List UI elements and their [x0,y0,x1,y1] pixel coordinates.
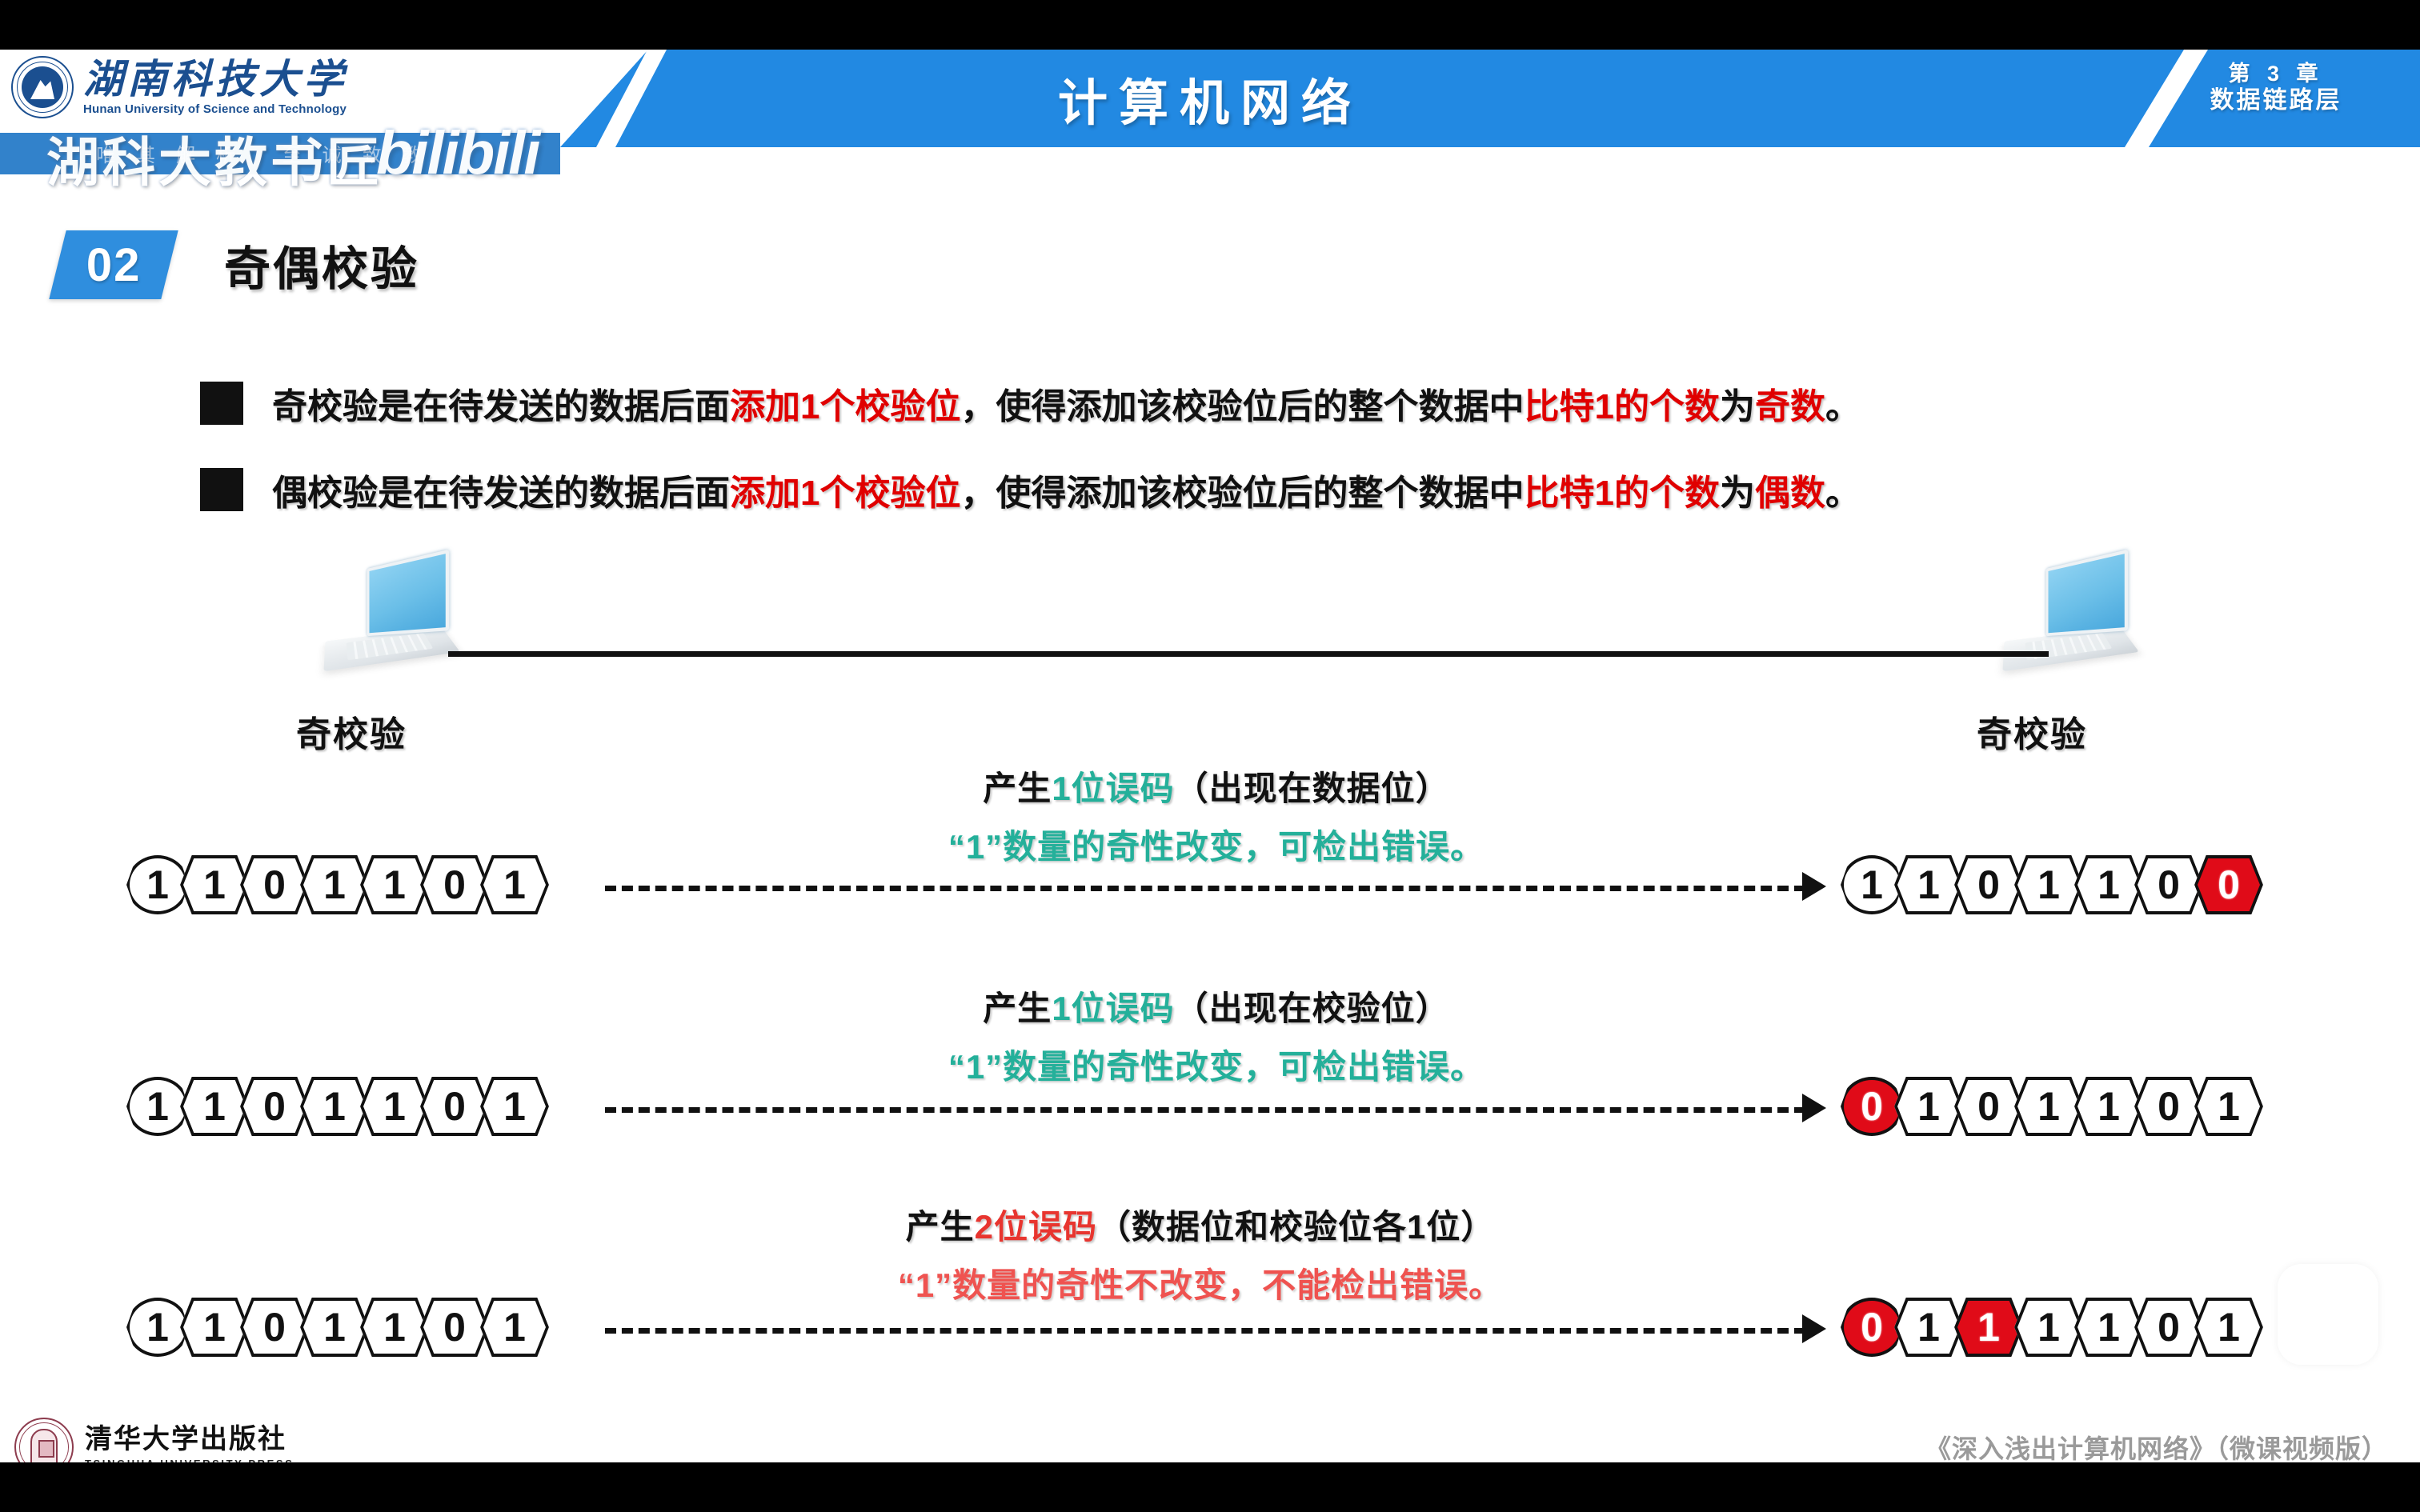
bit-value: 1 [2097,862,2120,908]
bit-cell: 0 [2194,855,2263,914]
bit-cell: 0 [2134,855,2203,914]
bit-value: 0 [2158,1083,2180,1130]
bit-value: 1 [2037,1304,2060,1350]
bit-cell: 1 [2194,1077,2263,1136]
bit-cell: 0 [420,1298,489,1357]
bit-cell: 1 [480,1077,549,1136]
bit-cell: 1 [2074,855,2143,914]
bit-cell: 1 [1841,855,1903,914]
bit-cell: 1 [480,855,549,914]
bit-value: 1 [146,862,169,908]
receiver-label: 奇校验 [1977,706,2087,757]
slide-canvas: 湖南科技大学 Hunan University of Science and T… [0,50,2420,1462]
bit-cell: 1 [2014,855,2083,914]
bullet-square-icon [200,382,243,425]
transmission-arrow-head-3 [1802,1314,1826,1343]
bit-value: 1 [2218,1083,2240,1130]
bit-value: 0 [263,1304,286,1350]
bit-cell: 0 [1954,855,2023,914]
link-line [448,651,2049,657]
bit-sequence-sent-2: 1101101 [126,1075,540,1138]
bit-value: 1 [503,1083,526,1130]
play-button-watermark-icon[interactable] [2278,1264,2378,1365]
annotation-1-title: 产生1位误码（出现在数据位） [720,762,1713,810]
watermark-channel-name: 湖科大教书匠 [46,120,383,197]
book-title: 《深入浅出计算机网络》（微课视频版） [1925,1429,2388,1462]
bit-cell: 0 [1954,1077,2023,1136]
bit-value: 0 [443,1304,466,1350]
bit-value: 1 [146,1083,169,1130]
chapter-number: 第 3 章 [2156,61,2396,86]
bit-value: 1 [203,1083,226,1130]
annotation-3-detail: “1”数量的奇性不改变，不能检出错误。 [704,1258,1697,1307]
section-title: 奇偶校验 [224,231,419,298]
transmission-arrow-line-3 [605,1328,1805,1334]
bit-value: 1 [1977,1304,2000,1350]
bit-sequence-received-3: 0111101 [1841,1296,2254,1358]
bit-cell: 1 [1894,1077,1963,1136]
laptop-receiver-icon [1997,558,2142,678]
bit-value: 1 [323,1083,346,1130]
bullet-item-even-parity: 偶校验是在待发送的数据后面添加1个校验位，使得添加该校验位后的整个数据中比特1的… [200,464,1861,515]
bit-cell: 1 [1894,855,1963,914]
bit-value: 0 [443,862,466,908]
bit-value: 0 [2158,862,2180,908]
bit-value: 1 [203,862,226,908]
bit-value: 1 [1917,1304,1940,1350]
bit-cell: 1 [126,855,189,914]
bit-cell: 0 [1841,1298,1903,1357]
bit-value: 1 [2037,862,2060,908]
bit-cell: 1 [300,1077,369,1136]
bit-cell: 1 [480,1298,549,1357]
bit-cell: 1 [126,1298,189,1357]
bit-sequence-sent-3: 1101101 [126,1296,540,1358]
bit-cell: 0 [2134,1077,2203,1136]
bit-cell: 0 [2134,1298,2203,1357]
annotation-3-title: 产生2位误码（数据位和校验位各1位） [704,1200,1697,1249]
bit-cell: 1 [180,1298,249,1357]
annotation-row-1: 产生1位误码（出现在数据位） “1”数量的奇性改变，可检出错误。 [720,762,1713,869]
bit-value: 1 [503,862,526,908]
bit-cell: 0 [240,1298,309,1357]
bit-cell: 0 [1841,1077,1903,1136]
publisher-logo: 清华大学出版社 TSINGHUA UNIVERSITY PRESS [14,1418,294,1462]
section-number-badge: 02 [49,230,178,299]
bit-value: 1 [1861,862,1883,908]
section-number: 02 [86,238,142,292]
laptop-sender-icon [319,558,463,678]
bit-value: 1 [2218,1304,2240,1350]
sender-label: 奇校验 [296,706,407,757]
bit-value: 0 [1861,1304,1883,1350]
bullet-text-even: 偶校验是在待发送的数据后面添加1个校验位，使得添加该校验位后的整个数据中比特1的… [272,464,1861,515]
bit-cell: 1 [2014,1298,2083,1357]
bit-value: 1 [1917,1083,1940,1130]
bit-value: 1 [323,1304,346,1350]
transmission-arrow-line-1 [605,886,1805,891]
bit-value: 1 [383,1083,406,1130]
annotation-2-title: 产生1位误码（出现在校验位） [720,982,1713,1030]
bit-value: 1 [1917,862,1940,908]
bit-cell: 1 [2074,1077,2143,1136]
bit-cell: 1 [180,855,249,914]
bit-value: 1 [2097,1304,2120,1350]
bit-cell: 0 [240,1077,309,1136]
bit-value: 1 [383,862,406,908]
bit-sequence-sent-1: 1101101 [126,854,540,916]
chapter-label: 第 3 章 数据链路层 [2156,61,2396,115]
transmission-arrow-line-2 [605,1107,1805,1113]
section-heading: 02 奇偶校验 [58,230,419,299]
bit-cell: 0 [240,855,309,914]
bit-cell: 0 [420,1077,489,1136]
annotation-2-detail: “1”数量的奇性改变，可检出错误。 [720,1040,1713,1089]
bit-cell: 1 [360,1298,429,1357]
bit-cell: 1 [300,1298,369,1357]
bit-value: 0 [263,1083,286,1130]
bit-value: 1 [503,1304,526,1350]
watermark-bilibili-logo: bilibili [376,118,539,188]
bit-value: 1 [323,862,346,908]
bit-cell: 1 [180,1077,249,1136]
bit-cell: 1 [360,855,429,914]
bit-value: 1 [146,1304,169,1350]
bit-value: 0 [2218,862,2240,908]
bit-value: 1 [383,1304,406,1350]
transmission-arrow-head-1 [1802,872,1826,901]
bit-value: 1 [2037,1083,2060,1130]
bit-cell: 1 [2194,1298,2263,1357]
annotation-row-2: 产生1位误码（出现在校验位） “1”数量的奇性改变，可检出错误。 [720,982,1713,1089]
bit-value: 1 [2097,1083,2120,1130]
bit-cell: 1 [1894,1298,1963,1357]
bit-sequence-received-1: 1101100 [1841,854,2254,916]
bit-cell: 1 [1954,1298,2023,1357]
bit-cell: 1 [300,855,369,914]
annotation-1-detail: “1”数量的奇性改变，可检出错误。 [720,820,1713,869]
bullet-item-odd-parity: 奇校验是在待发送的数据后面添加1个校验位，使得添加该校验位后的整个数据中比特1的… [200,378,1861,429]
bit-sequence-received-2: 0101101 [1841,1075,2254,1138]
bit-value: 0 [2158,1304,2180,1350]
bit-cell: 1 [360,1077,429,1136]
bullet-text-odd: 奇校验是在待发送的数据后面添加1个校验位，使得添加该校验位后的整个数据中比特1的… [272,378,1861,429]
bit-value: 1 [203,1304,226,1350]
annotation-row-3: 产生2位误码（数据位和校验位各1位） “1”数量的奇性不改变，不能检出错误。 [704,1200,1697,1307]
publisher-name-en: TSINGHUA UNIVERSITY PRESS [85,1458,294,1462]
bit-cell: 1 [2014,1077,2083,1136]
bullet-square-icon [200,468,243,511]
bit-value: 0 [1977,1083,2000,1130]
bit-cell: 1 [126,1077,189,1136]
transmission-arrow-head-2 [1802,1094,1826,1122]
bit-cell: 0 [420,855,489,914]
bit-value: 0 [263,862,286,908]
bit-value: 0 [443,1083,466,1130]
bit-cell: 1 [2074,1298,2143,1357]
publisher-name-cn: 清华大学出版社 [85,1425,294,1454]
bit-value: 0 [1977,862,2000,908]
bit-value: 0 [1861,1083,1883,1130]
chapter-name: 数据链路层 [2156,86,2396,115]
tsinghua-seal-icon [14,1418,74,1462]
